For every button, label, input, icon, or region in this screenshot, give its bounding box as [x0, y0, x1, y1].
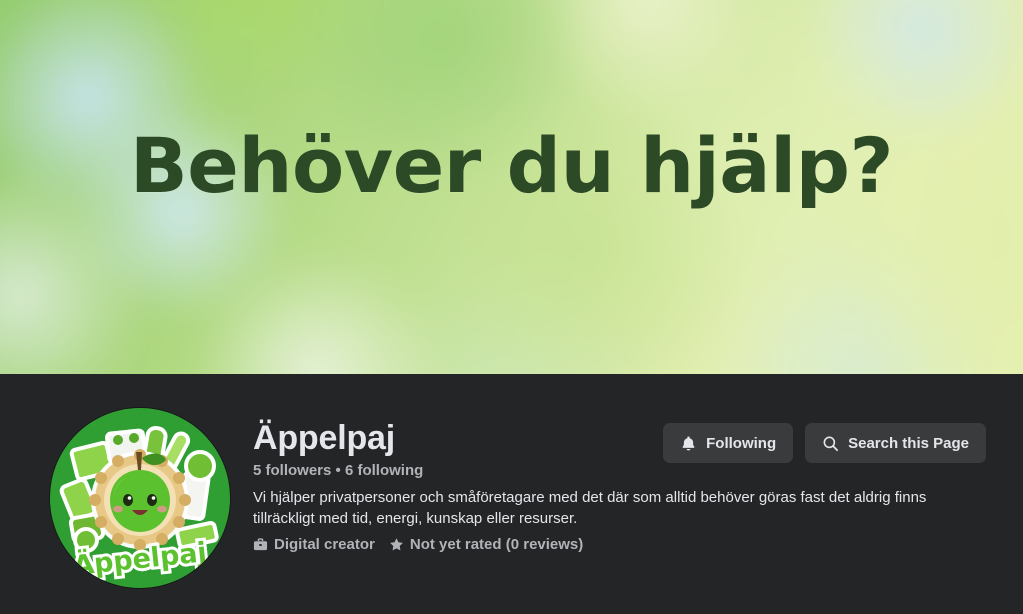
profile-panel: Äppelpaj Äppelpaj 5 followers • 6 follow…: [0, 374, 1023, 614]
avatar[interactable]: Äppelpaj: [50, 408, 230, 588]
cover-photo[interactable]: Behöver du hjälp?: [0, 0, 1023, 374]
following-button-label: Following: [706, 435, 776, 452]
star-icon: [389, 537, 404, 552]
rating-label: Not yet rated (0 reviews): [410, 536, 583, 553]
cover-headline: Behöver du hjälp?: [0, 128, 1023, 204]
search-icon: [822, 435, 839, 452]
appelpaj-logo-icon: Äppelpaj: [50, 408, 230, 588]
following-button[interactable]: Following: [663, 423, 793, 463]
follower-stats[interactable]: 5 followers • 6 following: [253, 462, 973, 481]
category-badge[interactable]: Digital creator: [253, 536, 375, 553]
rating-badge[interactable]: Not yet rated (0 reviews): [389, 536, 583, 553]
page-description: Vi hjälper privatpersoner och småföretag…: [253, 488, 965, 529]
page-meta-row: Digital creator Not yet rated (0 reviews…: [253, 536, 973, 553]
profile-actions: Following Search this Page: [663, 423, 986, 463]
facebook-page-profile: Behöver du hjälp?: [0, 0, 1023, 614]
category-label: Digital creator: [274, 536, 375, 553]
search-page-button-label: Search this Page: [848, 435, 969, 452]
bell-icon: [680, 435, 697, 452]
briefcase-icon: [253, 537, 268, 552]
search-page-button[interactable]: Search this Page: [805, 423, 986, 463]
